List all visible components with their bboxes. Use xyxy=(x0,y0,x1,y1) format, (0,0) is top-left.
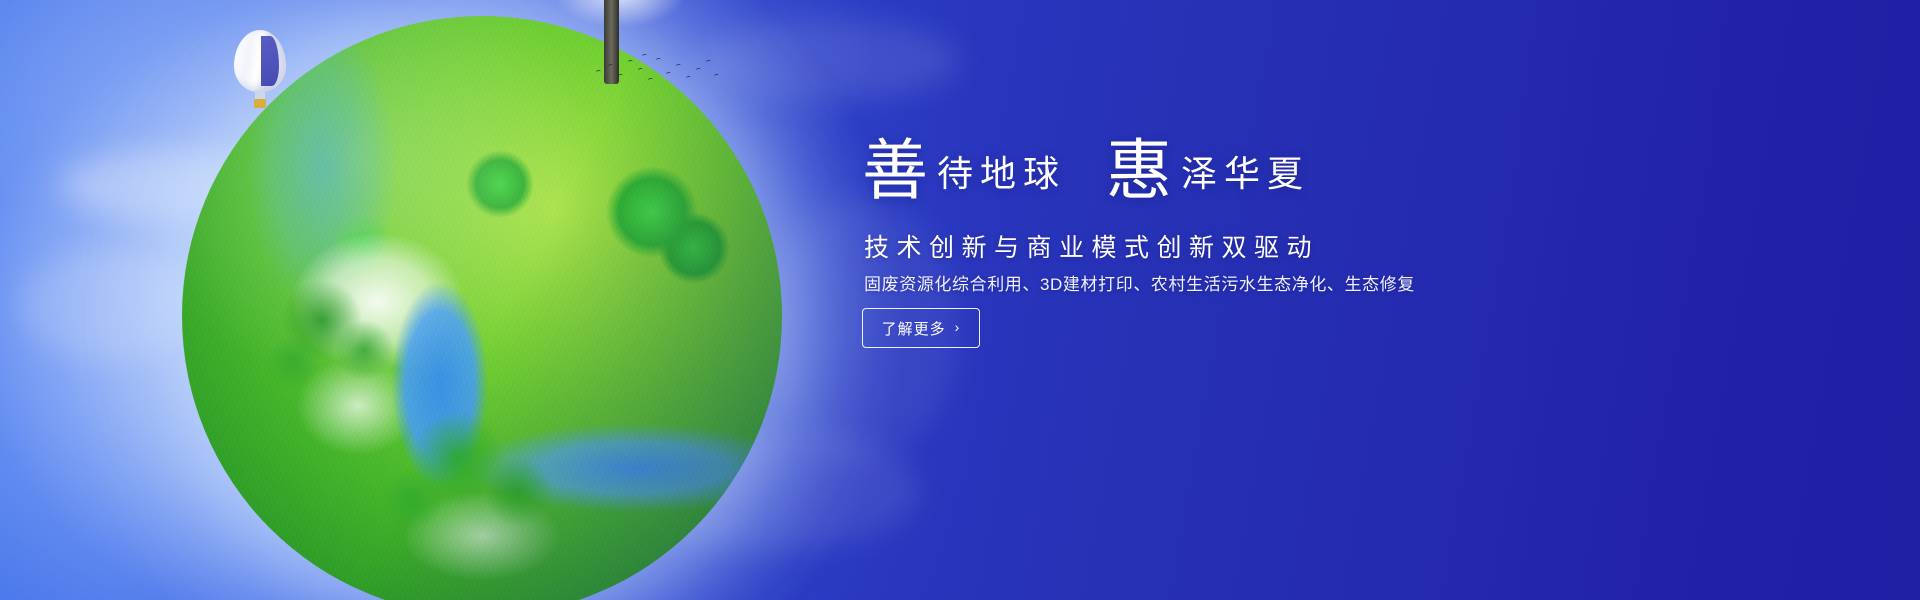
balloon-basket xyxy=(254,99,266,108)
hot-air-balloon-icon xyxy=(234,30,286,116)
headline-char-primary-1: 善 xyxy=(862,140,929,204)
hero-banner: 善 待地球 惠 泽华夏 技术创新与商业模式创新双驱动 固废资源化综合利用、3D建… xyxy=(0,0,1920,600)
birds-icon xyxy=(594,52,724,92)
hero-subline: 固废资源化综合利用、3D建材打印、农村生活污水生态净化、生态修复 xyxy=(864,270,1415,295)
balloon-neck xyxy=(255,90,265,99)
hero-tagline: 技术创新与商业模式创新双驱动 xyxy=(864,228,1319,264)
learn-more-button[interactable]: 了解更多 › xyxy=(862,308,980,348)
learn-more-label: 了解更多 xyxy=(882,318,946,339)
chevron-right-icon: › xyxy=(955,320,961,334)
hero-headline: 善 待地球 惠 泽华夏 xyxy=(862,140,1310,204)
headline-rest-1: 待地球 xyxy=(929,144,1066,204)
hero-content: 善 待地球 惠 泽华夏 技术创新与商业模式创新双驱动 固废资源化综合利用、3D建… xyxy=(862,0,1502,600)
headline-rest-2: 泽华夏 xyxy=(1173,144,1310,204)
headline-char-primary-2: 惠 xyxy=(1106,140,1173,204)
